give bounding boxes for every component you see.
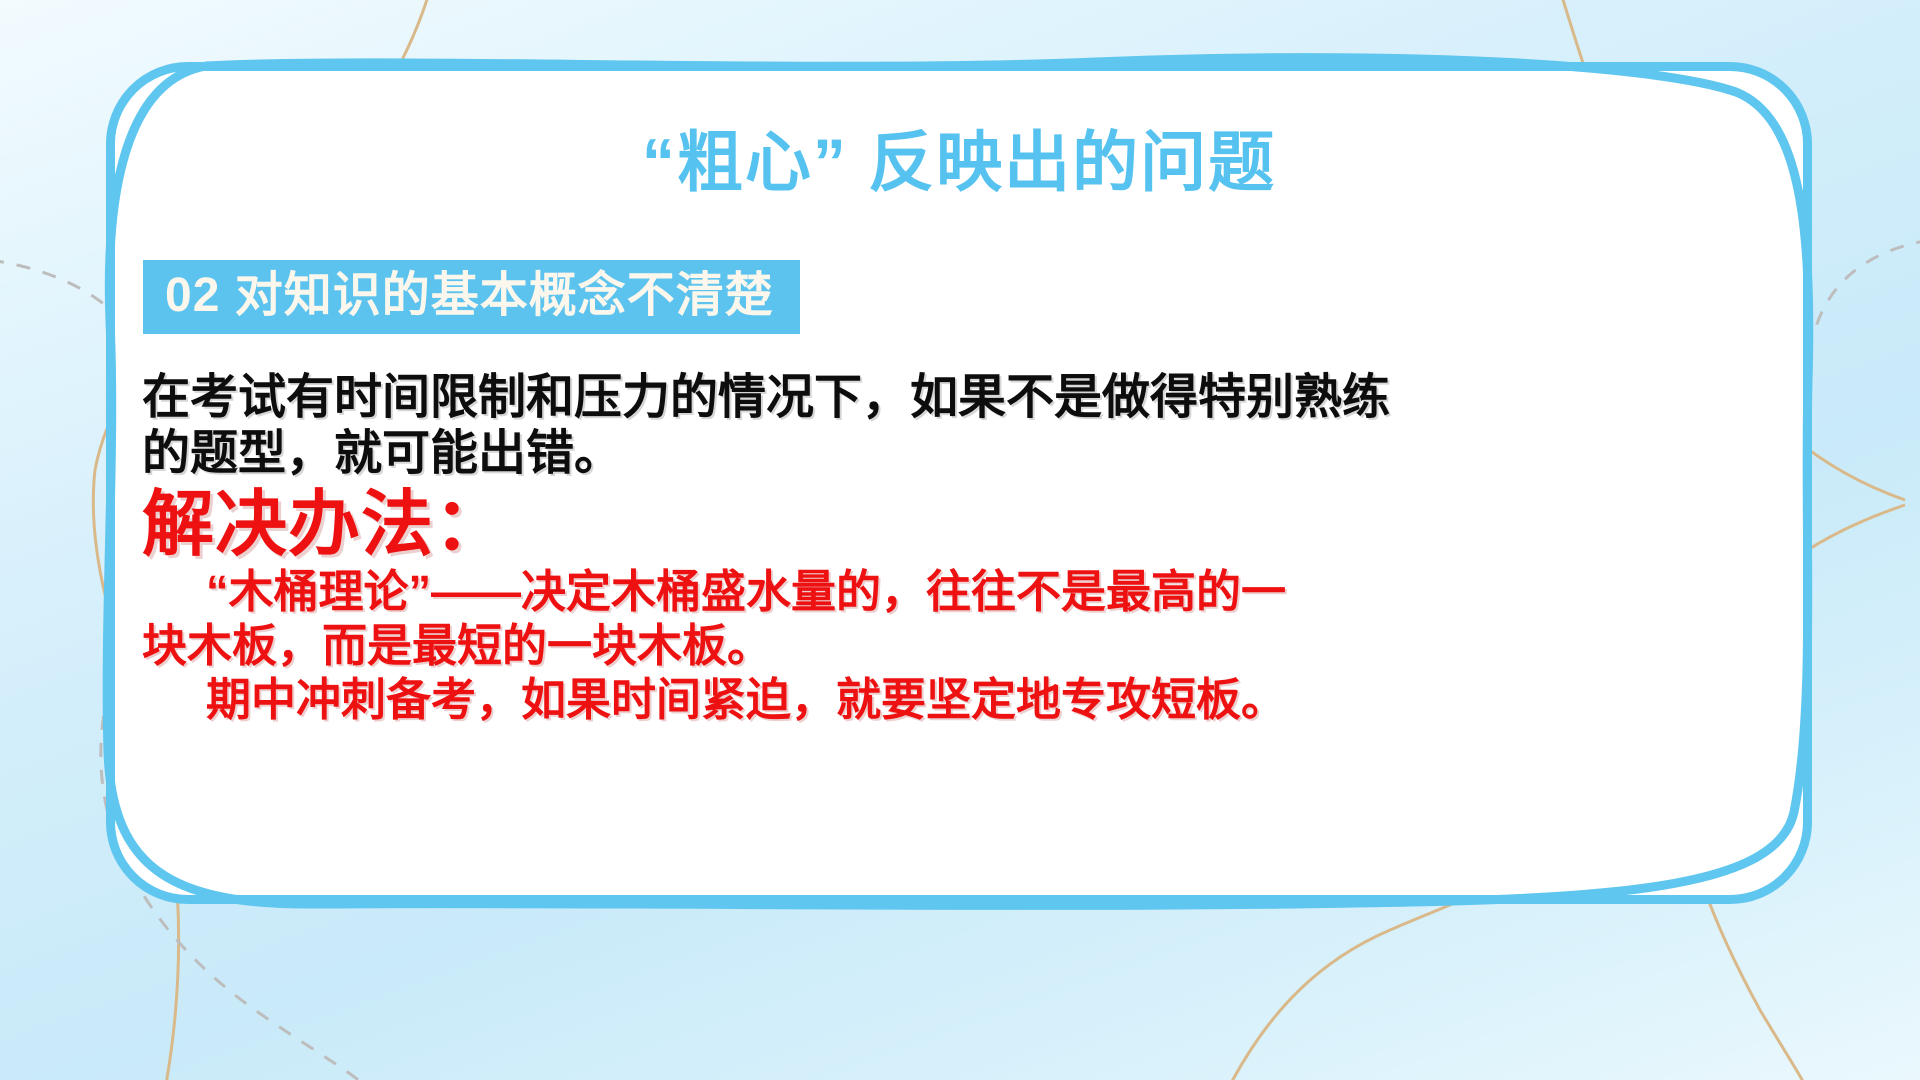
solution-paragraph: “木桶理论”——决定木桶盛水量的，往往不是最高的一 块木板，而是最短的一块木板。…	[142, 565, 1782, 727]
red-line-2: 块木板，而是最短的一块木板。	[142, 619, 1782, 673]
red-line-1-text: “木桶理论”——决定木桶盛水量的，往往不是最高的一	[206, 566, 1286, 617]
red-line-3: 期中冲刺备考，如果时间紧迫，就要坚定地专攻短板。	[142, 673, 1782, 727]
page-title: “粗心” 反映出的问题	[106, 126, 1812, 199]
red-line-1: “木桶理论”——决定木桶盛水量的，往往不是最高的一	[142, 565, 1782, 619]
solution-heading: 解决办法：	[142, 487, 1782, 565]
gray-dashed-right	[1815, 240, 1920, 330]
intro-paragraph: 在考试有时间限制和压力的情况下，如果不是做得特别熟练 的题型，就可能出错。	[142, 370, 1782, 481]
slide-content: “粗心” 反映出的问题 02 对知识的基本概念不清楚 在考试有时间限制和压力的情…	[106, 62, 1812, 904]
intro-line-2: 的题型，就可能出错。	[142, 426, 1782, 482]
section-badge: 02 对知识的基本概念不清楚	[143, 260, 800, 334]
body-block: 在考试有时间限制和压力的情况下，如果不是做得特别熟练 的题型，就可能出错。 解决…	[142, 370, 1782, 727]
intro-line-1: 在考试有时间限制和压力的情况下，如果不是做得特别熟练	[142, 370, 1782, 426]
red-line-3-text: 期中冲刺备考，如果时间紧迫，就要坚定地专攻短板。	[206, 674, 1286, 725]
slide-canvas: “粗心” 反映出的问题 02 对知识的基本概念不清楚 在考试有时间限制和压力的情…	[0, 0, 1920, 1080]
